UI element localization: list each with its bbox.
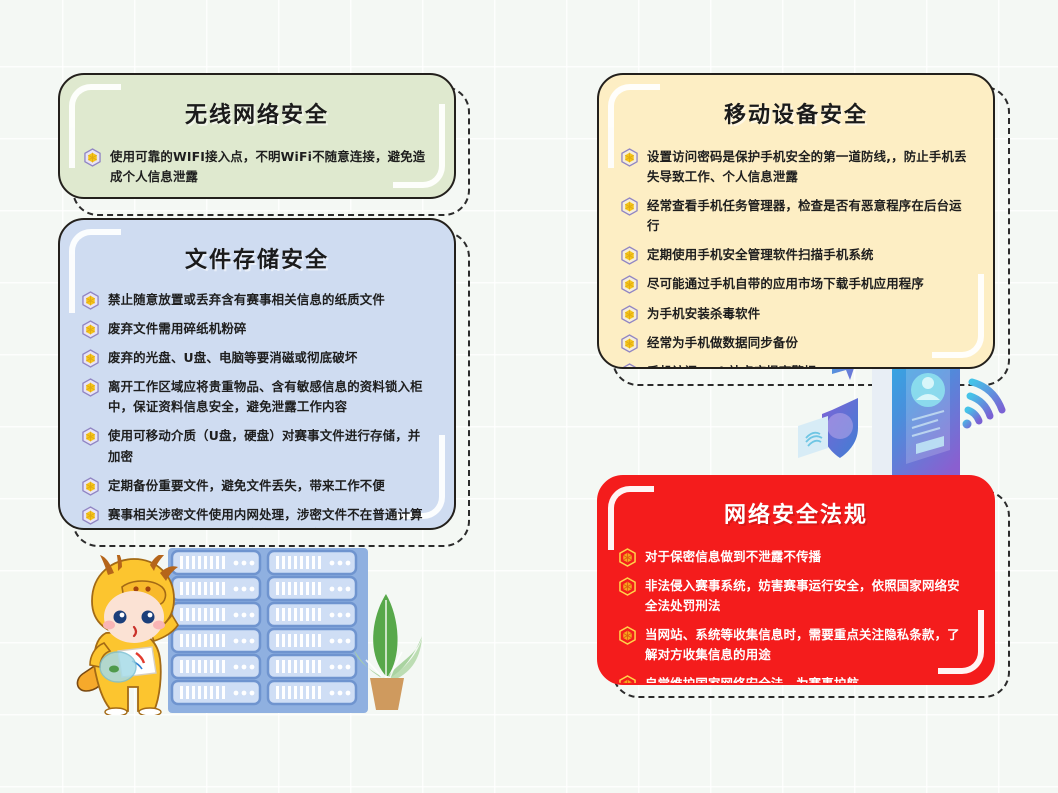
list-item: 尽可能通过手机自带的应用市场下载手机应用程序	[621, 274, 969, 294]
list-item: 设置访问密码是保护手机安全的第一道防线,，防止手机丢失导致工作、个人信息泄露	[621, 147, 969, 187]
mobile-card-title: 移动设备安全	[599, 97, 993, 129]
hexagon-cube-icon	[621, 334, 638, 353]
list-item-text: 非法侵入赛事系统，妨害赛事运行安全，依照国家网络安全法处罚刑法	[645, 576, 969, 616]
list-item-text: 离开工作区域应将贵重物品、含有敏感信息的资料锁入柜中，保证资料信息安全，避免泄露…	[108, 377, 432, 417]
list-item-text: 使用可靠的WIFI接入点，不明WiFi不随意连接，避免造成个人信息泄露	[110, 147, 428, 187]
hexagon-cube-icon	[621, 275, 638, 294]
files-bullet-list: 禁止随意放置或丢弃含有赛事相关信息的纸质文件 废弃文件需用碎纸机粉碎 废弃的光盘…	[82, 290, 432, 530]
list-item: 赛事相关涉密文件使用内网处理，涉密文件不在普通计算机上进行处理，保证文件安全性、…	[82, 505, 432, 530]
list-item-text: 手机访问Web站点应提高警惕	[647, 362, 817, 369]
mobile-bullet-list: 设置访问密码是保护手机安全的第一道防线,，防止手机丢失导致工作、个人信息泄露 经…	[621, 147, 969, 369]
dragon-mascot-illustration	[76, 555, 186, 715]
list-item-text: 经常查看手机任务管理器，检查是否有恶意程序在后台运行	[647, 196, 969, 236]
list-item: 离开工作区域应将贵重物品、含有敏感信息的资料锁入柜中，保证资料信息安全，避免泄露…	[82, 377, 432, 417]
hexagon-cube-icon	[621, 305, 638, 324]
list-item: 禁止随意放置或丢弃含有赛事相关信息的纸质文件	[82, 290, 432, 310]
list-item: 对于保密信息做到不泄露不传播	[619, 547, 969, 567]
list-item: 手机访问Web站点应提高警惕	[621, 362, 969, 369]
list-item-text: 设置访问密码是保护手机安全的第一道防线,，防止手机丢失导致工作、个人信息泄露	[647, 147, 969, 187]
list-item-text: 定期备份重要文件，避免文件丢失，带来工作不便	[108, 476, 385, 496]
wireless-bullet-list: 使用可靠的WIFI接入点，不明WiFi不随意连接，避免造成个人信息泄露	[84, 147, 428, 187]
files-card-title: 文件存储安全	[60, 242, 454, 274]
list-item: 经常为手机做数据同步备份	[621, 333, 969, 353]
potted-plant-illustration	[352, 580, 422, 712]
hexagon-cube-icon	[621, 148, 638, 167]
hexagon-cube-icon	[82, 506, 99, 525]
hexagon-cube-icon	[619, 675, 636, 685]
server-rack-illustration	[168, 548, 368, 713]
list-item: 为手机安装杀毒软件	[621, 304, 969, 324]
hexagon-cube-icon	[84, 148, 101, 167]
list-item: 自觉维护国家网络安全法，为赛事护航	[619, 674, 969, 685]
list-item-text: 禁止随意放置或丢弃含有赛事相关信息的纸质文件	[108, 290, 385, 310]
network-security-law-card: 网络安全法规 对于保密信息做到不泄露不传播 非法侵入赛事系统，妨害赛事运行安全，…	[597, 475, 995, 685]
list-item: 废弃的光盘、U盘、电脑等要消磁或彻底破坏	[82, 348, 432, 368]
hexagon-cube-icon	[82, 320, 99, 339]
law-card-title: 网络安全法规	[599, 497, 993, 529]
list-item: 当网站、系统等收集信息时，需要重点关注隐私条款，了解对方收集信息的用途	[619, 625, 969, 665]
list-item: 经常查看手机任务管理器，检查是否有恶意程序在后台运行	[621, 196, 969, 236]
hexagon-cube-icon	[82, 427, 99, 446]
hexagon-cube-icon	[621, 363, 638, 369]
list-item-text: 赛事相关涉密文件使用内网处理，涉密文件不在普通计算机上进行处理，保证文件安全性、…	[108, 505, 432, 530]
list-item-text: 经常为手机做数据同步备份	[647, 333, 798, 353]
hexagon-cube-icon	[82, 378, 99, 397]
hexagon-cube-icon	[621, 246, 638, 265]
list-item: 使用可靠的WIFI接入点，不明WiFi不随意连接，避免造成个人信息泄露	[84, 147, 428, 187]
hexagon-cube-icon	[619, 548, 636, 567]
wireless-card-title: 无线网络安全	[60, 97, 454, 129]
list-item-text: 定期使用手机安全管理软件扫描手机系统	[647, 245, 874, 265]
hexagon-cube-icon	[619, 626, 636, 645]
list-item-text: 为手机安装杀毒软件	[647, 304, 760, 324]
list-item: 定期备份重要文件，避免文件丢失，带来工作不便	[82, 476, 432, 496]
list-item: 定期使用手机安全管理软件扫描手机系统	[621, 245, 969, 265]
list-item-text: 当网站、系统等收集信息时，需要重点关注隐私条款，了解对方收集信息的用途	[645, 625, 969, 665]
hexagon-cube-icon	[82, 349, 99, 368]
hexagon-cube-icon	[82, 291, 99, 310]
wifi-icon	[963, 382, 1003, 429]
hexagon-cube-icon	[621, 197, 638, 216]
list-item-text: 废弃文件需用碎纸机粉碎	[108, 319, 247, 339]
hexagon-cube-icon	[82, 477, 99, 496]
list-item: 非法侵入赛事系统，妨害赛事运行安全，依照国家网络安全法处罚刑法	[619, 576, 969, 616]
file-storage-security-card: 文件存储安全 禁止随意放置或丢弃含有赛事相关信息的纸质文件 废弃文件需用碎纸机粉…	[58, 218, 456, 530]
list-item-text: 自觉维护国家网络安全法，为赛事护航	[645, 674, 859, 685]
mobile-device-security-card: 移动设备安全 设置访问密码是保护手机安全的第一道防线,，防止手机丢失导致工作、个…	[597, 73, 995, 369]
list-item-text: 废弃的光盘、U盘、电脑等要消磁或彻底破坏	[108, 348, 357, 368]
wireless-network-security-card: 无线网络安全 使用可靠的WIFI接入点，不明WiFi不随意连接，避免造成个人信息…	[58, 73, 456, 199]
law-bullet-list: 对于保密信息做到不泄露不传播 非法侵入赛事系统，妨害赛事运行安全，依照国家网络安…	[619, 547, 969, 685]
list-item: 使用可移动介质（U盘，硬盘）对赛事文件进行存储，并加密	[82, 426, 432, 466]
list-item-text: 使用可移动介质（U盘，硬盘）对赛事文件进行存储，并加密	[108, 426, 432, 466]
list-item-text: 尽可能通过手机自带的应用市场下载手机应用程序	[647, 274, 924, 294]
list-item-text: 对于保密信息做到不泄露不传播	[645, 547, 821, 567]
hexagon-cube-icon	[619, 577, 636, 596]
list-item: 废弃文件需用碎纸机粉碎	[82, 319, 432, 339]
fingerprint-icon	[798, 416, 828, 458]
